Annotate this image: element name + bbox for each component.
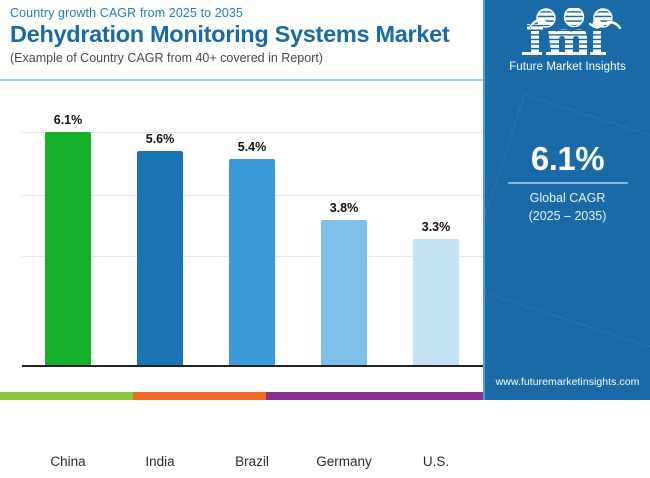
cagr-label-line2: (2025 – 2035)	[529, 209, 607, 223]
chart-panel: Country growth CAGR from 2025 to 2035 De…	[0, 0, 483, 400]
bar-group-india: 5.6%	[137, 88, 183, 365]
x-label-us: U.S.	[390, 454, 482, 469]
x-axis-tick-labels: ChinaIndiaBrazilGermanyU.S.	[0, 454, 483, 478]
x-label-brazil: Brazil	[206, 454, 298, 469]
bar-group-china: 6.1%	[45, 88, 91, 365]
stripe-segment-1	[133, 392, 266, 400]
infographic-root: Country growth CAGR from 2025 to 2035 De…	[0, 0, 650, 400]
global-cagr-label: Global CAGR (2025 – 2035)	[485, 189, 650, 225]
x-label-germany: Germany	[298, 454, 390, 469]
fmi-logo-icon: Future Market Insights	[485, 8, 650, 76]
bar-value-label-china: 6.1%	[31, 113, 105, 127]
bar-group-germany: 3.8%	[321, 88, 367, 365]
bar-india[interactable]	[137, 151, 183, 365]
stripe-segment-2	[266, 392, 483, 400]
bar-germany[interactable]	[321, 220, 367, 365]
page-title: Dehydration Monitoring Systems Market	[10, 21, 480, 48]
bar-value-label-germany: 3.8%	[307, 201, 381, 215]
website-url[interactable]: www.futuremarketinsights.com	[485, 376, 650, 388]
header: Country growth CAGR from 2025 to 2035 De…	[10, 6, 480, 65]
cagr-label-line1: Global CAGR	[530, 191, 606, 205]
bar-group-us: 3.3%	[413, 88, 459, 365]
bar-series: 6.1%5.6%5.4%3.8%3.3%	[0, 88, 483, 365]
brand-panel: Future Market Insights 6.1% Global CAGR …	[483, 0, 650, 400]
x-axis-line	[22, 365, 483, 367]
header-divider	[0, 79, 483, 81]
cagr-divider	[508, 182, 628, 184]
bar-china[interactable]	[45, 132, 91, 365]
plot-area: 6.1%5.6%5.4%3.8%3.3% ChinaIndiaBrazilGer…	[0, 88, 483, 366]
bar-brazil[interactable]	[229, 159, 275, 365]
bar-value-label-brazil: 5.4%	[215, 140, 289, 154]
bar-us[interactable]	[413, 239, 459, 365]
bar-value-label-india: 5.6%	[123, 132, 197, 146]
bar-value-label-us: 3.3%	[399, 220, 473, 234]
subtitle-text: (Example of Country CAGR from 40+ covere…	[10, 51, 480, 65]
x-label-china: China	[22, 454, 114, 469]
eyebrow-text: Country growth CAGR from 2025 to 2035	[10, 6, 480, 20]
x-label-india: India	[114, 454, 206, 469]
bar-group-brazil: 5.4%	[229, 88, 275, 365]
logo-tagline: Future Market Insights	[485, 61, 650, 73]
global-cagr-value: 6.1%	[485, 140, 650, 178]
stripe-segment-0	[0, 392, 133, 400]
